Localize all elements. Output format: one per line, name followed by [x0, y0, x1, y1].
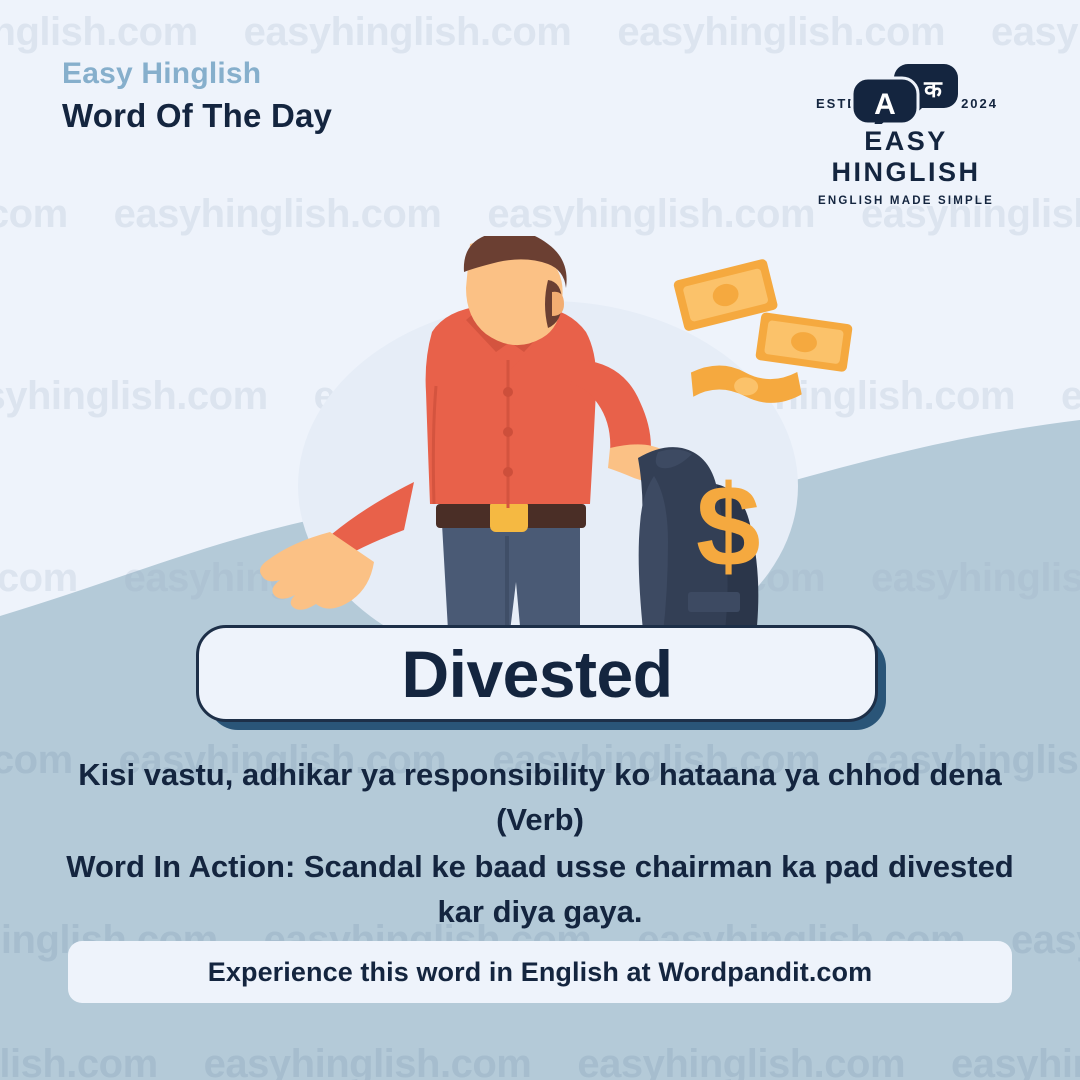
bubble-devanagari-letter: क [923, 76, 943, 102]
word-card-body: Divested [196, 625, 878, 722]
word-of-the-day: Divested [401, 641, 672, 707]
word-in-action: Word In Action: Scandal ke baad usse cha… [52, 845, 1028, 935]
dollar-sign-icon: $ [696, 461, 761, 591]
logo-name: EASY HINGLISH [788, 126, 1024, 188]
brand-name: Easy Hinglish [62, 56, 332, 92]
logo-mark: ESTD 2024 क A [788, 62, 1024, 124]
cta-banner[interactable]: Experience this word in English at Wordp… [68, 941, 1012, 1003]
shirt-button [503, 467, 513, 477]
shirt-button [503, 427, 513, 437]
banknote-icon [755, 312, 853, 372]
illustration-man-divesting-jacket: $ [218, 236, 878, 656]
jacket-pocket [688, 592, 740, 612]
word-card: Divested [196, 625, 886, 730]
page-title: Word Of The Day [62, 96, 332, 136]
word-meaning: Kisi vastu, adhikar ya responsibility ko… [44, 753, 1036, 843]
bubble-latin-letter: A [874, 88, 896, 121]
speech-bubbles-icon: क A [850, 62, 962, 124]
word-of-the-day-poster: easyhinglish.comeasyhinglish.comeasyhing… [0, 0, 1080, 1080]
cta-label: Experience this word in English at Wordp… [208, 957, 873, 988]
shirt-button [503, 387, 513, 397]
logo-year-label: 2024 [961, 96, 998, 111]
logo: ESTD 2024 क A EASY HINGLISH ENGLISH MADE… [788, 62, 1024, 207]
header: Easy Hinglish Word Of The Day [62, 56, 332, 136]
logo-tagline: ENGLISH MADE SIMPLE [788, 195, 1024, 207]
